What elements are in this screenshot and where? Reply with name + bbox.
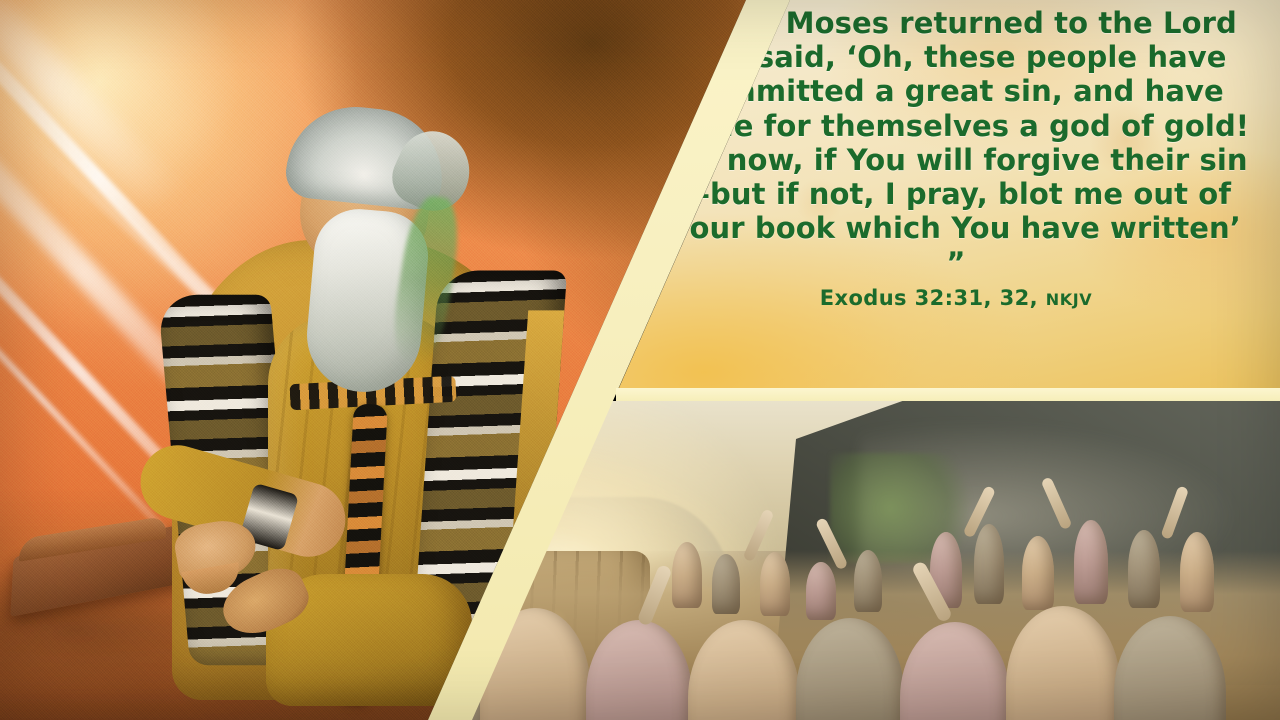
raised-arm xyxy=(1160,485,1189,540)
crowd-person xyxy=(1128,530,1160,608)
crowd-person xyxy=(854,550,882,612)
scripture-bible-version: NKJV xyxy=(1046,290,1093,309)
crowd-person-foreground xyxy=(688,620,800,720)
crowd-person-foreground xyxy=(900,622,1010,720)
crowd-person xyxy=(672,542,702,608)
crowd-person xyxy=(974,524,1004,604)
crowd-person-foreground xyxy=(796,618,904,720)
crowd-person xyxy=(1180,532,1214,612)
crowd-person-foreground xyxy=(480,608,590,720)
scripture-reference: Exodus 32:31, 32, NKJV xyxy=(820,286,1093,310)
raised-arm xyxy=(637,564,673,627)
scripture-verse-text: “Then Moses returned to the Lord and sai… xyxy=(658,6,1254,280)
crowd-person xyxy=(712,554,740,614)
crowd-person-foreground xyxy=(586,620,692,720)
raised-arm xyxy=(1041,476,1073,530)
calf-leg xyxy=(538,481,547,525)
crowd-person-foreground xyxy=(1006,606,1120,720)
crowd-person xyxy=(806,562,836,620)
crowd-person xyxy=(760,552,790,616)
crowd-person xyxy=(1022,536,1054,610)
scripture-reference-book: Exodus 32:31, 32, xyxy=(820,286,1038,310)
crowd-person xyxy=(1074,520,1108,604)
horizontal-divider xyxy=(616,388,1280,401)
crowd-person-foreground xyxy=(1114,616,1226,720)
slide-canvas: “Then Moses returned to the Lord and sai… xyxy=(0,0,1280,720)
